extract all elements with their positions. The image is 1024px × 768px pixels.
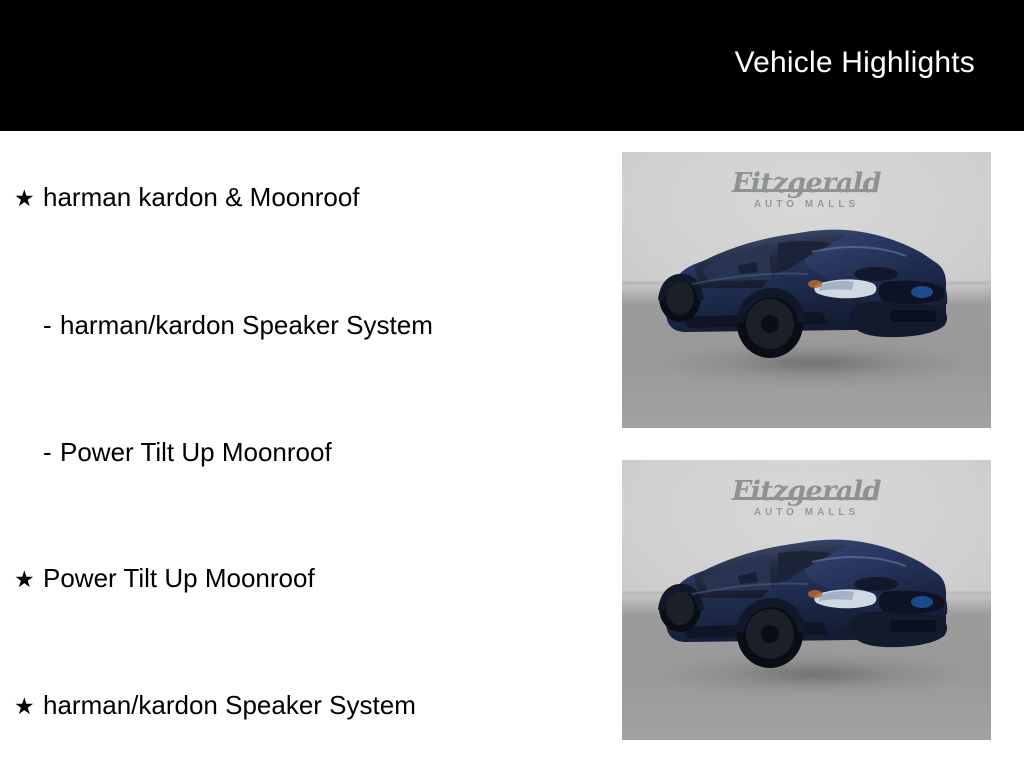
car-illustration <box>622 460 991 740</box>
list-item-label: harman/kardon Speaker System <box>43 692 416 718</box>
list-item: ★ Power Tilt Up Moonroof <box>14 565 315 591</box>
brand-badge <box>911 286 933 298</box>
list-item: ★ harman kardon & Moonroof <box>14 184 360 210</box>
hood-scoop <box>854 577 898 591</box>
list-item: - Power Tilt Up Moonroof <box>43 439 332 465</box>
brand-badge <box>911 596 933 608</box>
page-title: Vehicle Highlights <box>735 48 975 78</box>
slide: Vehicle Highlights ★ harman kardon & Moo… <box>0 0 1024 768</box>
car-illustration <box>622 152 991 428</box>
list-item-label: harman/kardon Speaker System <box>60 312 433 338</box>
header-bar: Vehicle Highlights <box>0 0 1024 131</box>
list-item-label: harman kardon & Moonroof <box>43 184 360 210</box>
list-item-label: Power Tilt Up Moonroof <box>60 439 332 465</box>
list-item-label: Power Tilt Up Moonroof <box>43 565 315 591</box>
lower-grille <box>890 310 936 322</box>
dash-icon: - <box>43 312 60 338</box>
vehicle-photo-bottom: Fitzgerald AUTO MALLS <box>622 460 991 740</box>
vehicle-photo-top: Fitzgerald AUTO MALLS <box>622 152 991 428</box>
dash-icon: - <box>43 439 60 465</box>
hood-scoop <box>854 267 898 281</box>
star-icon: ★ <box>14 568 43 591</box>
list-item: - harman/kardon Speaker System <box>43 312 433 338</box>
turn-signal <box>808 590 822 598</box>
turn-signal <box>808 280 822 288</box>
vehicle-highlights-list: ★ harman kardon & Moonroof - harman/kard… <box>0 131 600 768</box>
list-item: ★ harman/kardon Speaker System <box>14 692 416 718</box>
lower-grille <box>890 620 936 632</box>
star-icon: ★ <box>14 187 43 210</box>
star-icon: ★ <box>14 695 43 718</box>
